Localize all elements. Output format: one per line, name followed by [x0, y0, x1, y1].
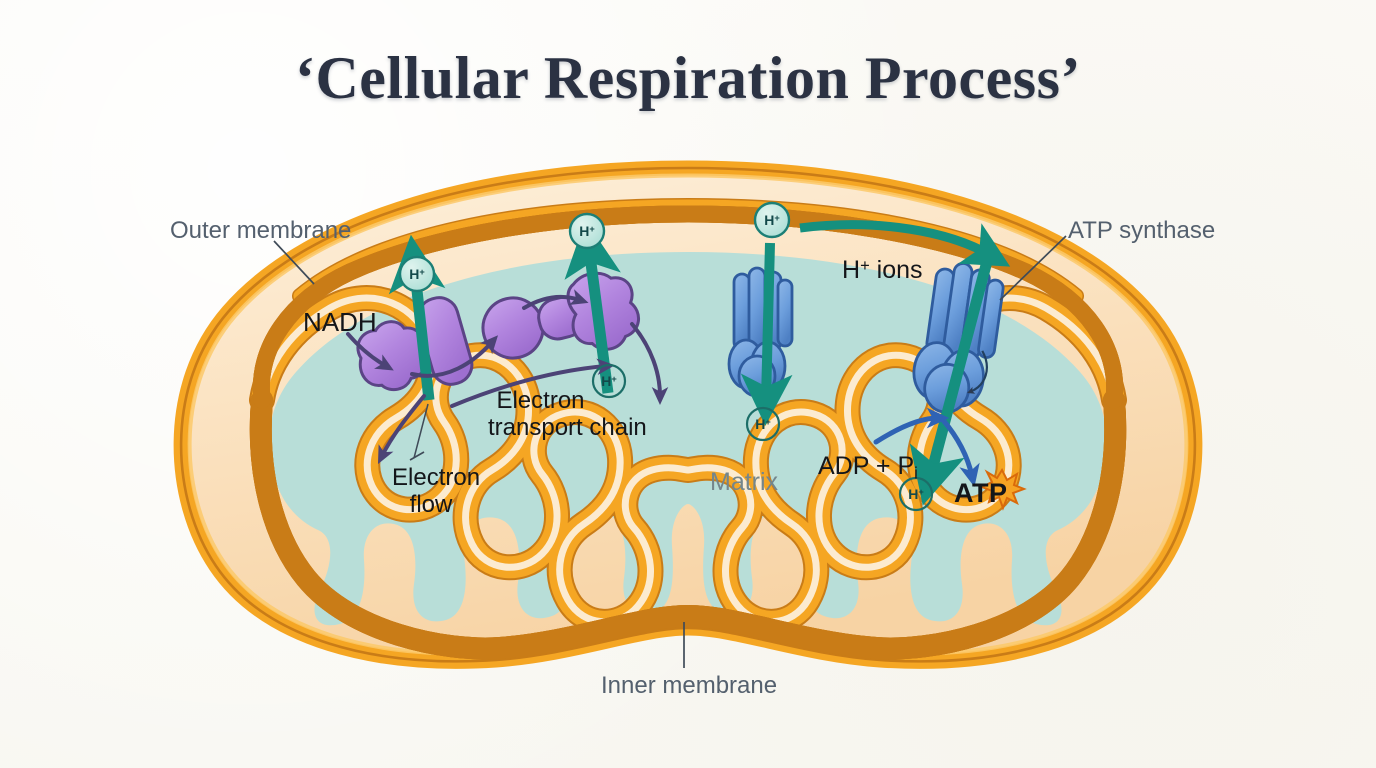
- proton-2: [570, 214, 604, 248]
- label-eflow-line2: flow: [392, 492, 470, 519]
- proton-channel[interactable]: [729, 268, 792, 396]
- label-hions-charge: +: [860, 257, 870, 275]
- label-nadh: NADH: [303, 308, 377, 337]
- mitochondrion-diagram: Outer membrane ATP synthase Inner membra…: [0, 0, 1376, 768]
- label-etc-line2: transport chain: [488, 415, 593, 442]
- label-hions-suffix: ions: [870, 256, 923, 284]
- proton-1: [400, 257, 434, 291]
- label-adp-pi: ADP + Pi: [818, 452, 918, 483]
- label-matrix: Matrix: [710, 468, 778, 496]
- label-atp-synthase: ATP synthase: [1068, 218, 1215, 245]
- label-adp-subscript: i: [914, 465, 918, 483]
- label-inner-membrane: Inner membrane: [601, 673, 777, 700]
- mitochondrion-svg: [0, 0, 1376, 768]
- label-etc-line1: Electron: [488, 388, 593, 415]
- label-h-ions: H+ ions: [842, 256, 923, 284]
- label-hions-prefix: H: [842, 256, 860, 284]
- label-atp: ATP: [954, 478, 1008, 508]
- label-adp-prefix: ADP + P: [818, 452, 914, 480]
- label-electron-flow: Electron flow: [392, 465, 470, 519]
- label-eflow-line1: Electron: [392, 465, 470, 492]
- label-electron-transport-chain: Electron transport chain: [488, 388, 593, 442]
- label-outer-membrane: Outer membrane: [170, 218, 351, 245]
- proton-4: [755, 203, 789, 237]
- proton-return-channel: [766, 243, 770, 400]
